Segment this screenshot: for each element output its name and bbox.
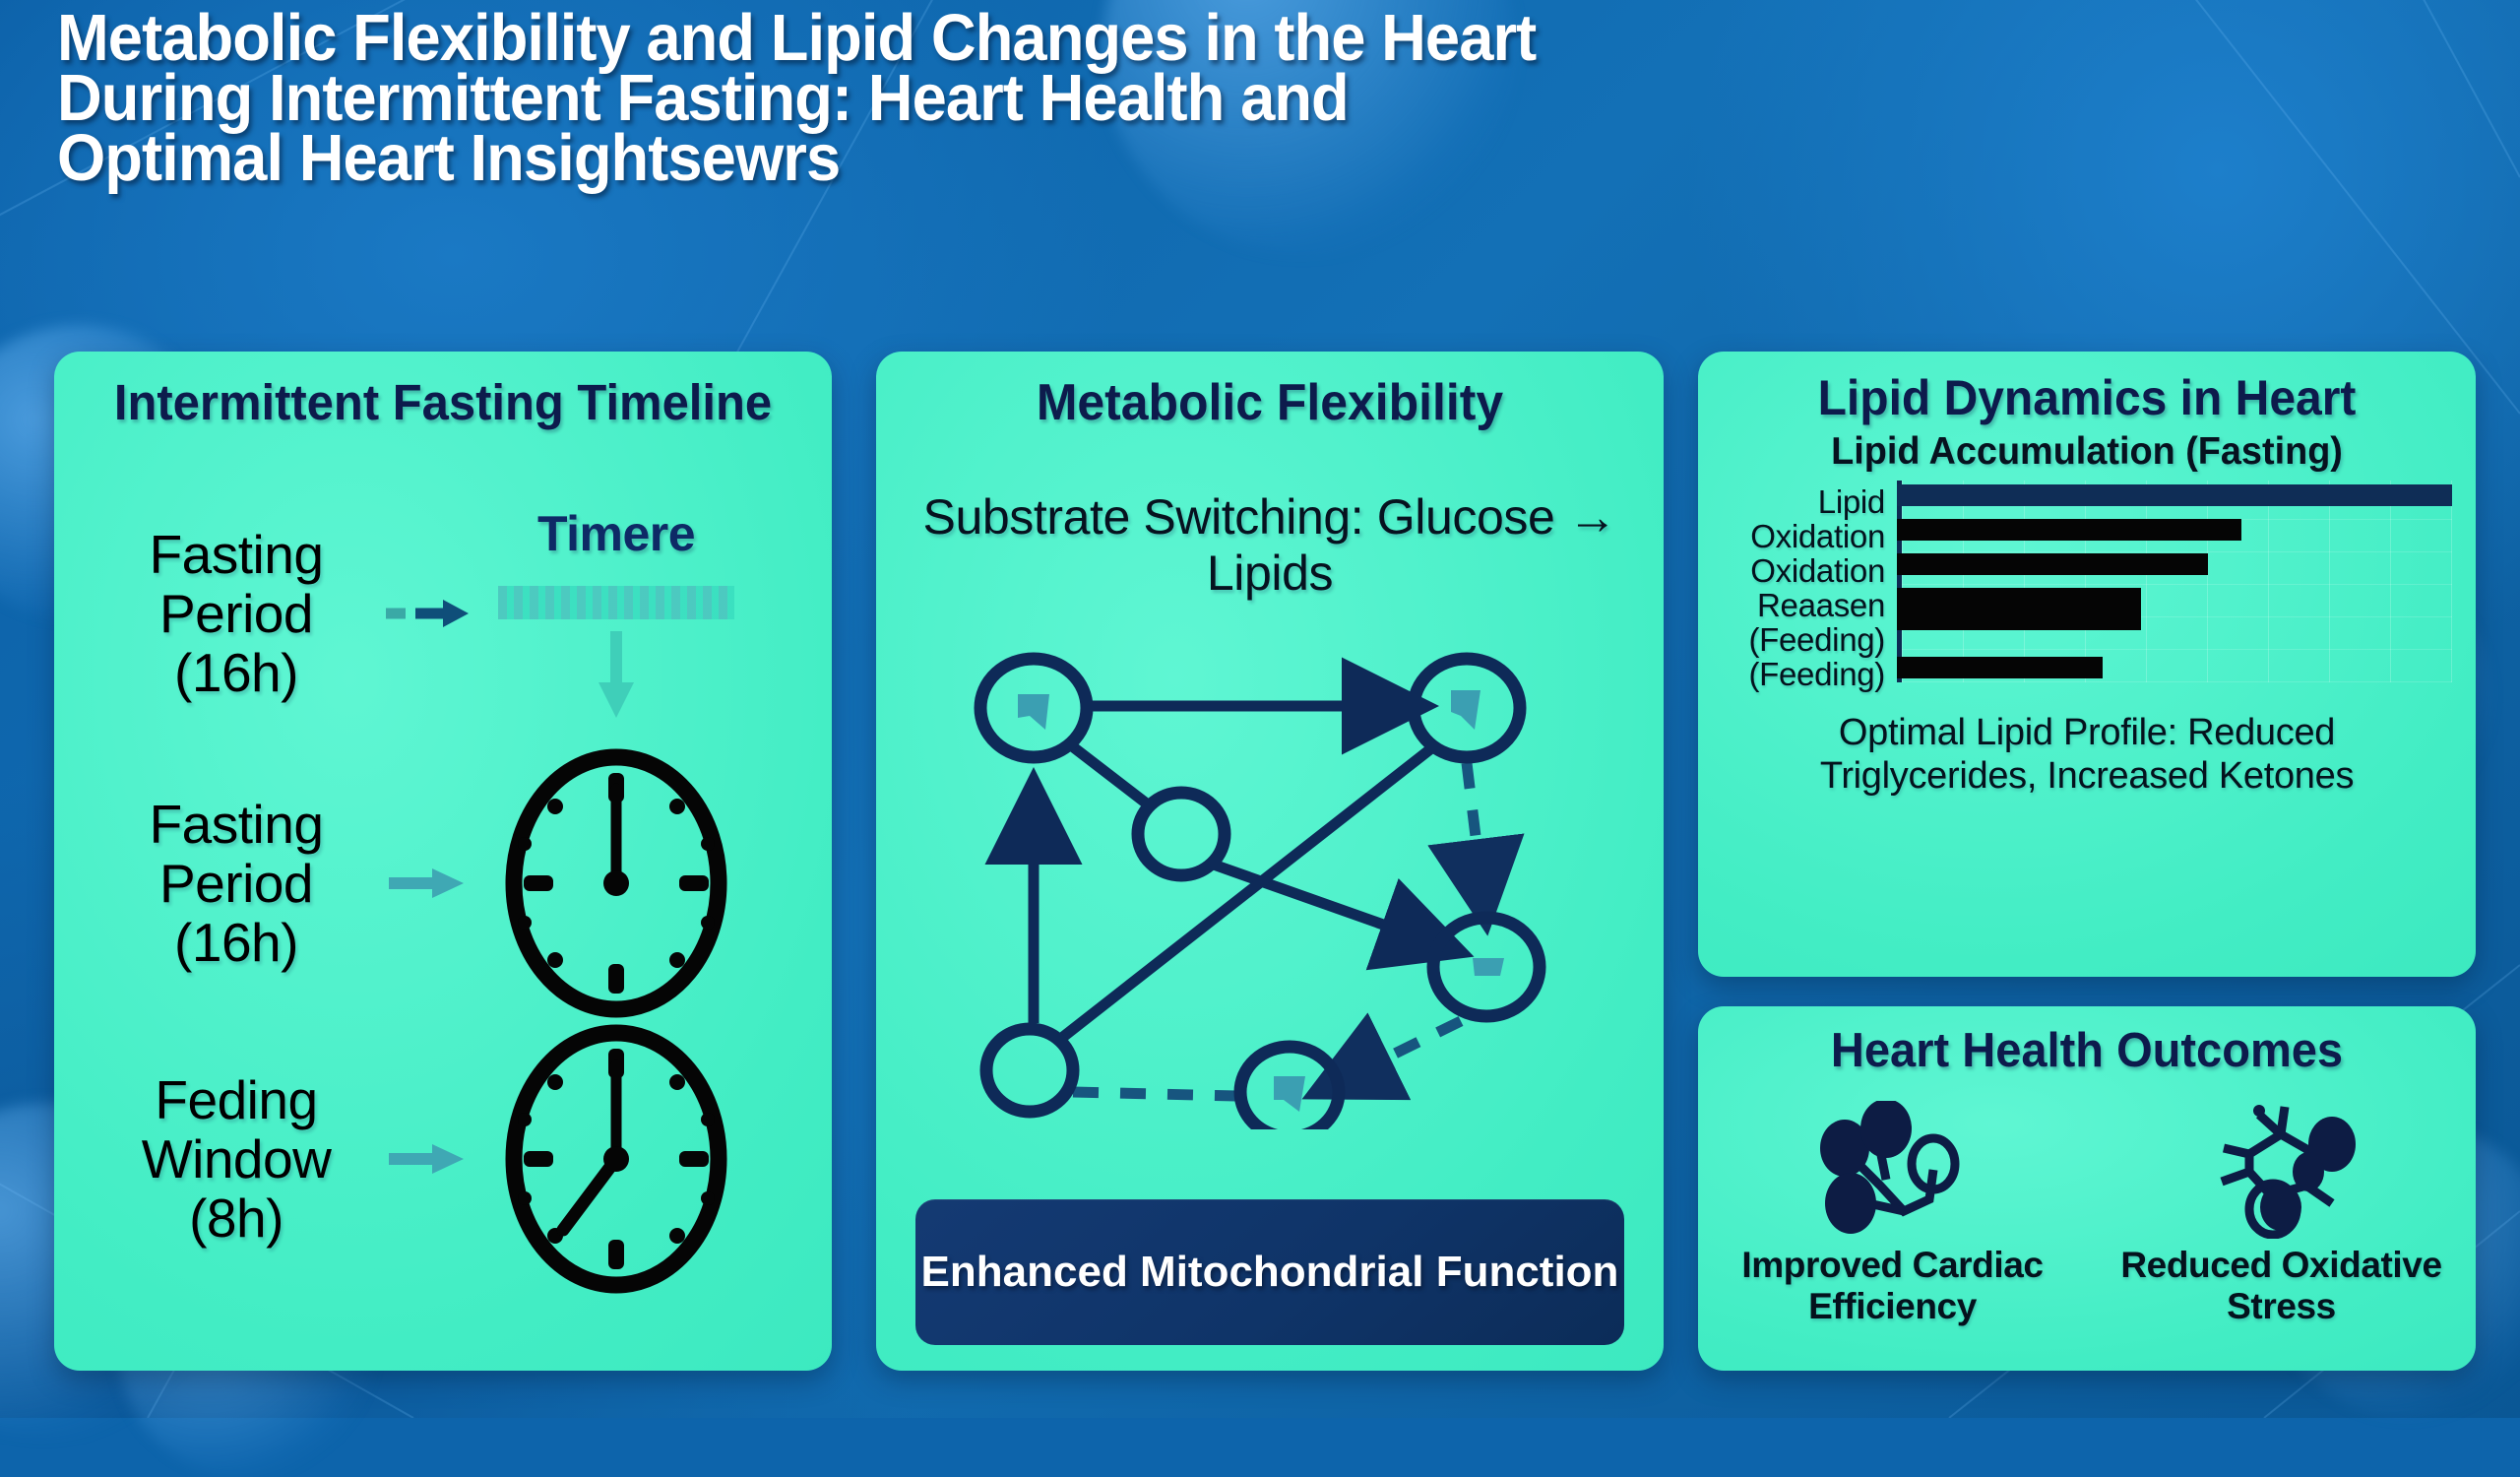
dashed-arrow-right-icon [379,594,473,633]
chart-bar-row: Oxidation [1724,519,2452,553]
mitochondrial-function-banner: Enhanced Mitochondrial Function [915,1199,1624,1345]
timer-progress-hatch-bar [498,586,734,619]
clock-visual [473,745,759,1021]
chart-bar [1897,553,2208,575]
timeline-card: Intermittent Fasting Timeline Fasting Pe… [54,352,832,1371]
edge-dashed [1073,1092,1236,1096]
outcome-caption: Reduced Oxidative Stress [2087,1245,2476,1327]
molecule-cluster-icon [1809,1101,1977,1239]
edge-dashed [1341,1021,1461,1080]
chart-bar-row: Reaasen (Feeding) [1724,588,2452,657]
molecule-network-icon [2198,1101,2365,1239]
chart-plot-cell [1897,657,2452,691]
chart-plot-cell [1897,553,2452,588]
outcomes-list: Improved Cardiac Efficiency [1698,1101,2476,1327]
timeline-row-label: Fasting Period (16h) [94,795,379,972]
chart-bar-row: Oxidation [1724,553,2452,588]
clock-visual [473,1021,759,1297]
timeline-card-heading: Intermittent Fasting Timeline [70,352,816,430]
metabolic-network-diagram [923,647,1616,1120]
chart-category-label: Oxidation [1724,519,1897,553]
chart-plot-cell [1897,484,2452,519]
arrow-right-icon [379,1139,473,1179]
outcome-caption: Improved Cardiac Efficiency [1698,1245,2087,1327]
edge-solid [1071,745,1148,804]
chart-bar-row: Lipid [1724,484,2452,519]
chart-bar [1897,588,2141,630]
timeline-row: Feding Window (8h) [94,1021,759,1297]
chart-bar [1897,519,2241,541]
chart-title: Lipid Accumulation (Fasting) [1710,430,2464,474]
network-node [986,1029,1073,1112]
lipid-card-heading: Lipid Dynamics in Heart [1714,352,2460,424]
substrate-switching-subtitle: Substrate Switching: Glucose → Lipids [876,489,1664,602]
chart-category-label: (Feeding) [1724,657,1897,691]
heart-health-outcomes-card: Heart Health Outcomes [1698,1006,2476,1371]
chart-bar-row: (Feeding) [1724,657,2452,691]
timeline-row: Fasting Period (16h) [94,745,759,1021]
lipid-dynamics-card: Lipid Dynamics in Heart Lipid Accumulati… [1698,352,2476,977]
clock-icon [498,745,734,1021]
chart-category-label: Lipid [1724,484,1897,519]
timer-label: Timere [537,505,695,562]
chart-plot-cell [1897,588,2452,657]
arrow-down-icon [587,627,646,722]
chart-bar [1897,657,2103,678]
chart-bar [1897,484,2452,506]
timeline-rows: Fasting Period (16h) Timere Fasting Peri… [54,499,832,1357]
timeline-row-label: Feding Window (8h) [94,1070,379,1248]
chart-category-label: Reaasen (Feeding) [1724,588,1897,657]
timeline-row: Fasting Period (16h) Timere [94,505,759,722]
chart-plot-cell [1897,519,2452,553]
timer-visual: Timere [473,505,759,722]
flexibility-card: Metabolic Flexibility Substrate Switchin… [876,352,1664,1371]
edge-solid [1211,864,1433,942]
outcome-item: Reduced Oxidative Stress [2087,1101,2476,1327]
down-arrow-glyph-icon [1274,1076,1305,1112]
clock-icon [498,1021,734,1297]
chart-bar-rows: LipidOxidationOxidationReaasen (Feeding)… [1724,484,2452,676]
dash-glyph-icon [1473,958,1504,976]
down-arrow-glyph-icon [1018,694,1049,730]
down-arrow-glyph-icon [1451,690,1480,730]
outcomes-card-heading: Heart Health Outcomes [1714,1006,2460,1077]
lipid-profile-note: Optimal Lipid Profile: Reduced Triglycer… [1732,711,2442,798]
edge-dashed [1467,763,1482,893]
network-node [1138,793,1225,875]
arrow-right-icon [379,864,473,903]
page-title: Metabolic Flexibility and Lipid Changes … [57,8,1583,188]
outcome-item: Improved Cardiac Efficiency [1698,1101,2087,1327]
chart-category-label: Oxidation [1724,553,1897,588]
timeline-row-label: Fasting Period (16h) [94,525,379,702]
lipid-accumulation-bar-chart: LipidOxidationOxidationReaasen (Feeding)… [1724,484,2452,676]
flexibility-card-heading: Metabolic Flexibility [892,352,1648,431]
